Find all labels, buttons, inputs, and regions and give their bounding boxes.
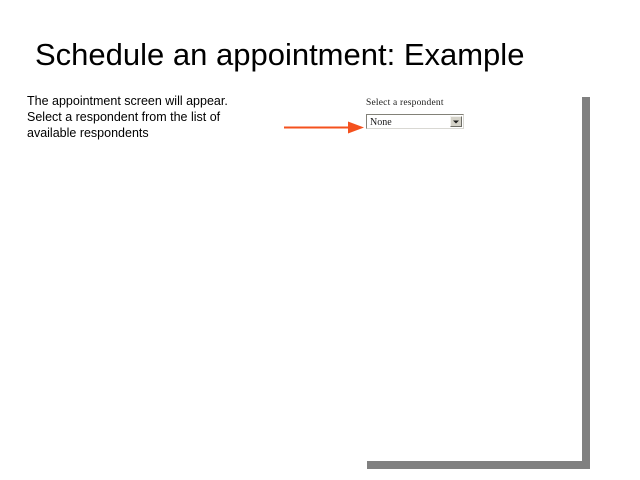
respondent-label: Select a respondent: [366, 98, 470, 109]
screenshot-shadow-bottom: [367, 461, 590, 469]
screenshot-shadow-right: [582, 97, 590, 469]
respondent-selected-value: None: [370, 116, 392, 129]
respondent-field-group: Select a respondent None: [366, 98, 470, 129]
arrow-right-icon: [284, 119, 366, 137]
page-title: Schedule an appointment: Example: [35, 39, 524, 72]
arrow-head: [348, 122, 364, 134]
slide-canvas: Schedule an appointment: Example The app…: [0, 0, 640, 480]
chevron-down-icon: [453, 120, 459, 123]
respondent-dropdown-button[interactable]: [450, 116, 462, 127]
respondent-select[interactable]: None: [366, 114, 464, 129]
slide-body-text: The appointment screen will appear. Sele…: [27, 93, 253, 141]
